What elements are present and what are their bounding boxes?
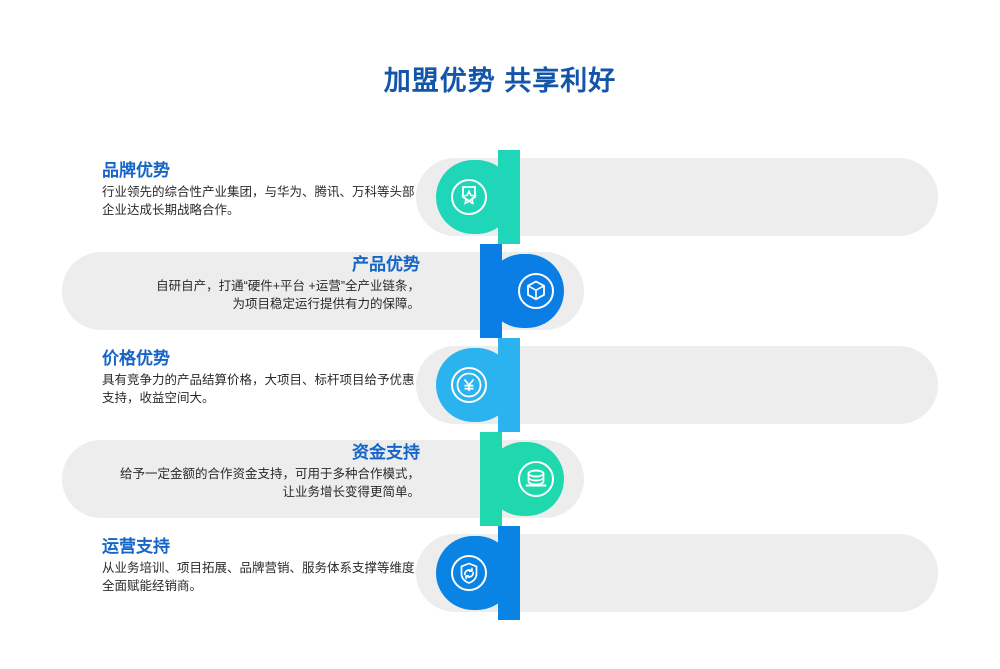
card-title: 资金支持 [352,441,420,465]
cube-box-icon [511,266,561,316]
page-title: 加盟优势 共享利好 [0,64,1000,98]
card-text-brand: 品牌优势 行业领先的综合性产业集团，与华为、腾讯、万科等头部 企业达成长期战略合… [102,150,502,228]
advantage-row-price: 价格优势 具有竞争力的产品结算价格，大项目、标杆项目给予优惠 支持，收益空间大。 [0,338,1000,432]
card-text-operations: 运营支持 从业务培训、项目拓展、品牌营销、服务体系支撑等维度 全面赋能经销商。 [102,526,502,604]
card-description: 自研自产，打通“硬件+平台 +运营”全产业链条， 为项目稳定运行提供有力的保障。 [156,277,420,313]
spine-segment [480,244,502,338]
card-description: 具有竞争力的产品结算价格，大项目、标杆项目给予优惠 支持，收益空间大。 [102,371,415,407]
card-description: 从业务培训、项目拓展、品牌营销、服务体系支撑等维度 全面赋能经销商。 [102,559,415,595]
advantage-row-brand: 品牌优势 行业领先的综合性产业集团，与华为、腾讯、万科等头部 企业达成长期战略合… [0,150,1000,244]
card-text-product: 产品优势 自研自产，打通“硬件+平台 +运营”全产业链条， 为项目稳定运行提供有… [20,244,420,322]
card-title: 品牌优势 [102,159,170,183]
card-text-price: 价格优势 具有竞争力的产品结算价格，大项目、标杆项目给予优惠 支持，收益空间大。 [102,338,502,416]
advantage-row-product: 产品优势 自研自产，打通“硬件+平台 +运营”全产业链条， 为项目稳定运行提供有… [0,244,1000,338]
infographic-canvas: 加盟优势 共享利好 品牌优势 行业领先的综合性产业集团，与华为、腾讯、万科等头部… [0,0,1000,669]
card-description: 行业领先的综合性产业集团，与华为、腾讯、万科等头部 企业达成长期战略合作。 [102,183,415,219]
coins-stack-icon [511,454,561,504]
card-text-funding: 资金支持 给予一定金额的合作资金支持，可用于多种合作模式， 让业务增长变得更简单… [20,432,420,510]
card-title: 产品优势 [352,253,420,277]
spine-segment [480,432,502,526]
advantage-row-operations: 运营支持 从业务培训、项目拓展、品牌营销、服务体系支撑等维度 全面赋能经销商。 [0,526,1000,620]
card-description: 给予一定金额的合作资金支持，可用于多种合作模式， 让业务增长变得更简单。 [120,465,420,501]
advantage-row-funding: 资金支持 给予一定金额的合作资金支持，可用于多种合作模式， 让业务增长变得更简单… [0,432,1000,526]
card-title: 价格优势 [102,347,170,371]
card-title: 运营支持 [102,535,170,559]
